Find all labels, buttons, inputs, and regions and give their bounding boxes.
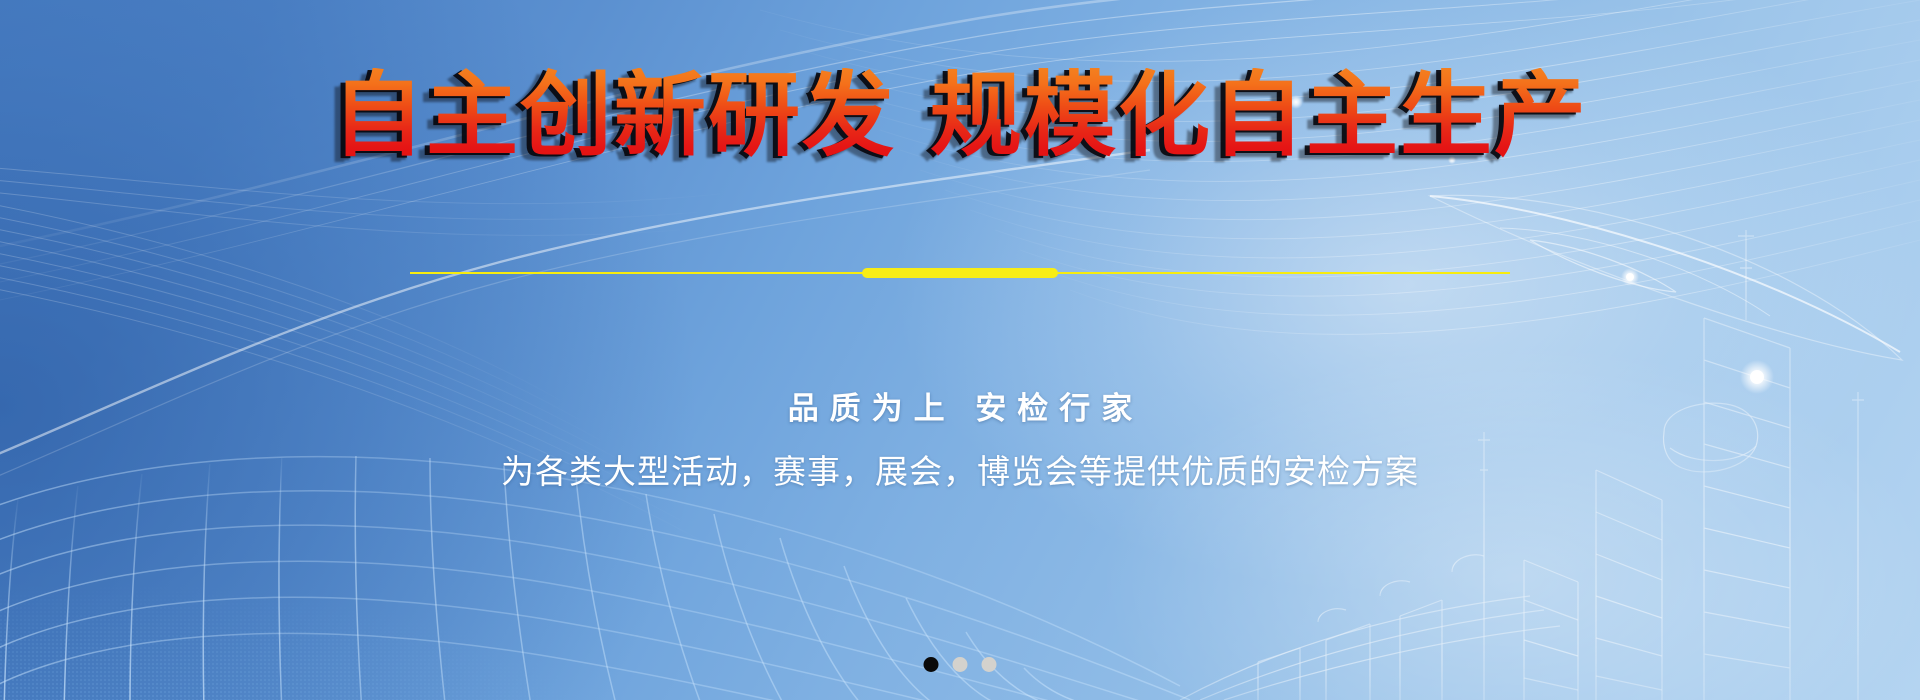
carousel-dot-1[interactable] (924, 657, 939, 672)
carousel-dot-2[interactable] (953, 657, 968, 672)
carousel-dot-3[interactable] (982, 657, 997, 672)
banner-content: 自主创新研发 规模化自主生产 品质为上 安检行家 为各类大型活动，赛事，展会，博… (0, 0, 1920, 700)
banner-tagline: 品质为上 安检行家 (777, 383, 1144, 428)
yellow-divider (410, 268, 1510, 278)
hero-banner: 自主创新研发 规模化自主生产 品质为上 安检行家 为各类大型活动，赛事，展会，博… (0, 0, 1920, 700)
carousel-indicators[interactable] (924, 657, 997, 672)
divider-thick-segment (862, 268, 1058, 278)
banner-headline: 自主创新研发 规模化自主生产 (332, 68, 1588, 165)
banner-description: 为各类大型活动，赛事，展会，博览会等提供优质的安检方案 (501, 445, 1419, 493)
